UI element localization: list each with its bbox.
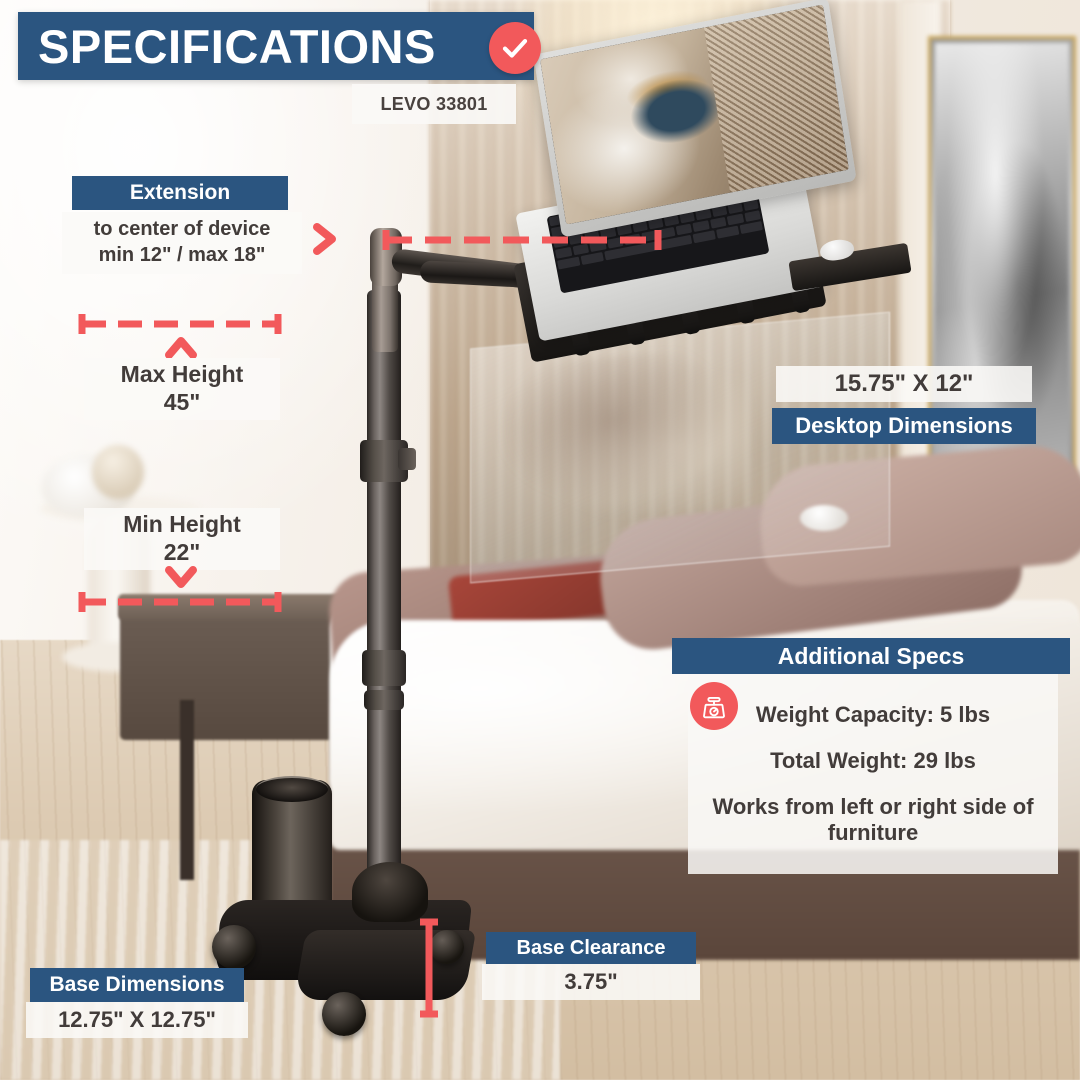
base-dimensions-value: 12.75" X 12.75"	[26, 1002, 248, 1038]
framed-photo	[928, 36, 1076, 516]
extension-measure-line	[382, 228, 662, 252]
additional-specs-label: Additional Specs	[672, 638, 1070, 674]
extension-line-2: min 12" / max 18"	[99, 243, 266, 269]
stand-pole	[367, 290, 401, 940]
min-height-label: Min Height	[123, 511, 241, 539]
page-title: SPECIFICATIONS	[38, 23, 436, 70]
desktop-dimensions-label: Desktop Dimensions	[772, 408, 1036, 444]
header-banner: SPECIFICATIONS	[18, 12, 534, 80]
caster-wheel	[322, 992, 366, 1036]
vase-secondary	[92, 445, 144, 499]
acrylic-reflection-detail	[500, 344, 750, 526]
bench-leg	[180, 700, 194, 880]
extension-description: to center of device min 12" / max 18"	[62, 212, 302, 274]
chevron-down-icon	[165, 566, 197, 588]
extension-line-1: to center of device	[94, 217, 271, 243]
additional-specs-panel: Weight Capacity: 5 lbs Total Weight: 29 …	[688, 674, 1058, 874]
base-clearance-measure-line	[418, 918, 440, 1018]
desktop-dimensions-value: 15.75" X 12"	[776, 366, 1032, 402]
model-number-box: LEVO 33801	[352, 84, 516, 124]
spec-weight-capacity: Weight Capacity: 5 lbs	[756, 702, 990, 728]
check-circle-icon	[489, 22, 541, 74]
model-number: LEVO 33801	[380, 94, 487, 115]
max-height-measure-line	[78, 312, 282, 336]
infographic-canvas: SPECIFICATIONS LEVO 33801 Extension to c…	[0, 0, 1080, 1080]
mouse-reflection	[800, 505, 848, 531]
base-clearance-label: Base Clearance	[486, 932, 696, 964]
lower-collar-2	[364, 690, 404, 710]
spec-placement: Works from left or right side of furnitu…	[702, 794, 1044, 846]
min-height-measure-line	[78, 590, 282, 614]
max-height-callout: Max Height 45"	[84, 358, 280, 420]
kitchen-scale-icon	[690, 682, 738, 730]
chevron-up-icon	[165, 336, 197, 358]
lower-collar	[362, 650, 406, 686]
cup-holder-rim	[256, 776, 328, 802]
min-height-value: 22"	[164, 539, 201, 567]
base-hub	[352, 862, 428, 922]
max-height-value: 45"	[164, 389, 201, 417]
max-height-label: Max Height	[121, 361, 244, 389]
extension-label: Extension	[72, 176, 288, 210]
base-dimensions-label: Base Dimensions	[30, 968, 244, 1002]
min-height-callout: Min Height 22"	[84, 508, 280, 570]
adjust-knob	[398, 448, 416, 470]
spec-total-weight: Total Weight: 29 lbs	[770, 748, 976, 774]
chevron-right-icon	[310, 222, 340, 256]
caster-wheel	[212, 925, 256, 969]
base-clearance-value: 3.75"	[482, 964, 700, 1000]
